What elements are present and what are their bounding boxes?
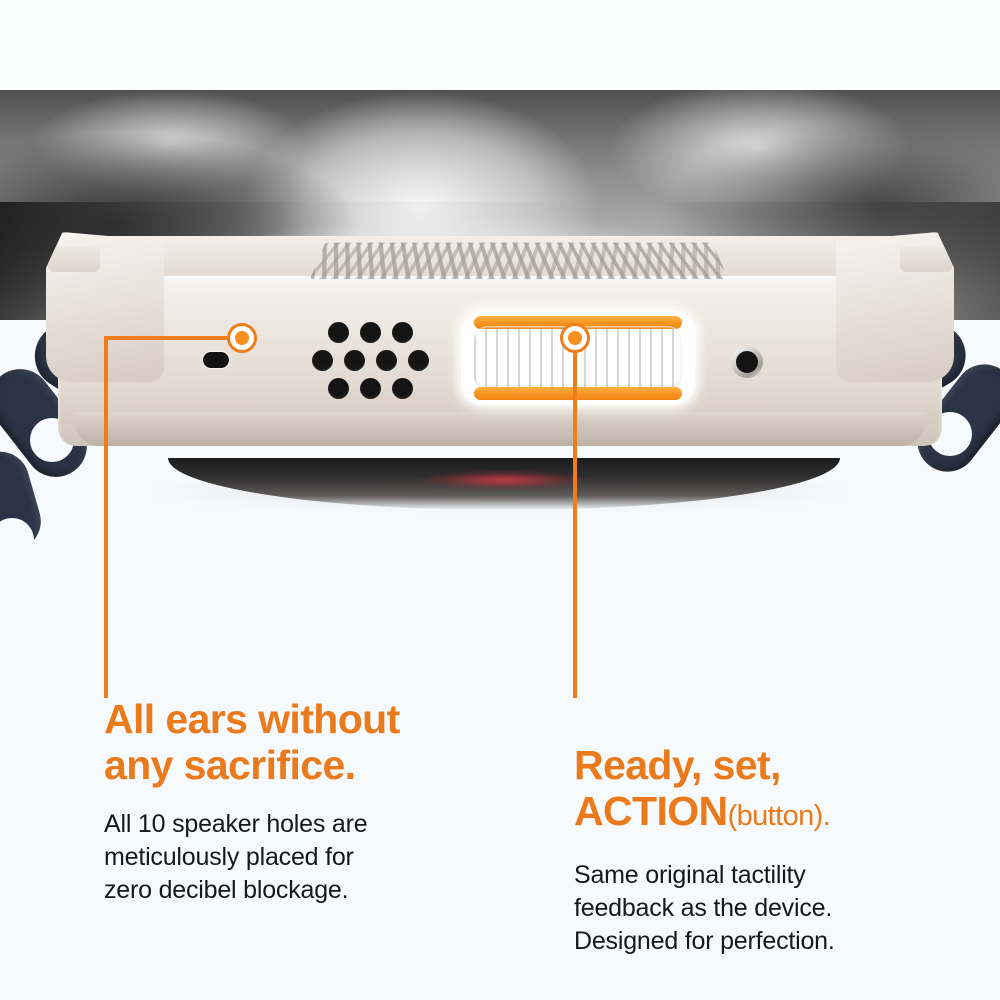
speaker-hole xyxy=(392,322,413,343)
body-action: Same original tactility feedback as the … xyxy=(574,859,984,958)
corner-bumper-left xyxy=(46,232,164,382)
speaker-hole xyxy=(392,378,413,399)
case-bottom-lip xyxy=(74,412,926,446)
headline-action: Ready, set, ACTION(button). xyxy=(574,696,984,839)
feature-block-action: Ready, set, ACTION(button). Same origina… xyxy=(574,696,984,958)
chevron-grip-texture xyxy=(310,242,728,279)
corner-bumper-right xyxy=(836,232,954,382)
callout-marker-speaker[interactable] xyxy=(227,323,257,353)
top-white-strip xyxy=(0,0,1000,90)
speaker-hole xyxy=(408,350,429,371)
speaker-hole xyxy=(328,322,349,343)
speaker-hole xyxy=(344,350,365,371)
red-glow xyxy=(424,472,584,488)
promo-page: All ears without any sacrifice. All 10 s… xyxy=(0,0,1000,1000)
speaker-hole xyxy=(376,350,397,371)
callout-marker-action[interactable] xyxy=(560,323,590,353)
headline-speaker: All ears without any sacrifice. xyxy=(104,696,504,788)
body-speaker: All 10 speaker holes are meticulously pl… xyxy=(104,808,504,907)
round-port xyxy=(731,346,763,378)
speaker-hole xyxy=(360,378,381,399)
action-button-highlight-bottom xyxy=(474,387,682,400)
microphone-hole xyxy=(203,352,229,368)
speaker-hole xyxy=(328,378,349,399)
speaker-holes xyxy=(318,322,424,398)
speaker-hole xyxy=(312,350,333,371)
feature-block-speaker: All ears without any sacrifice. All 10 s… xyxy=(104,696,504,907)
speaker-hole xyxy=(360,322,381,343)
headline-action-small: (button). xyxy=(728,800,831,832)
